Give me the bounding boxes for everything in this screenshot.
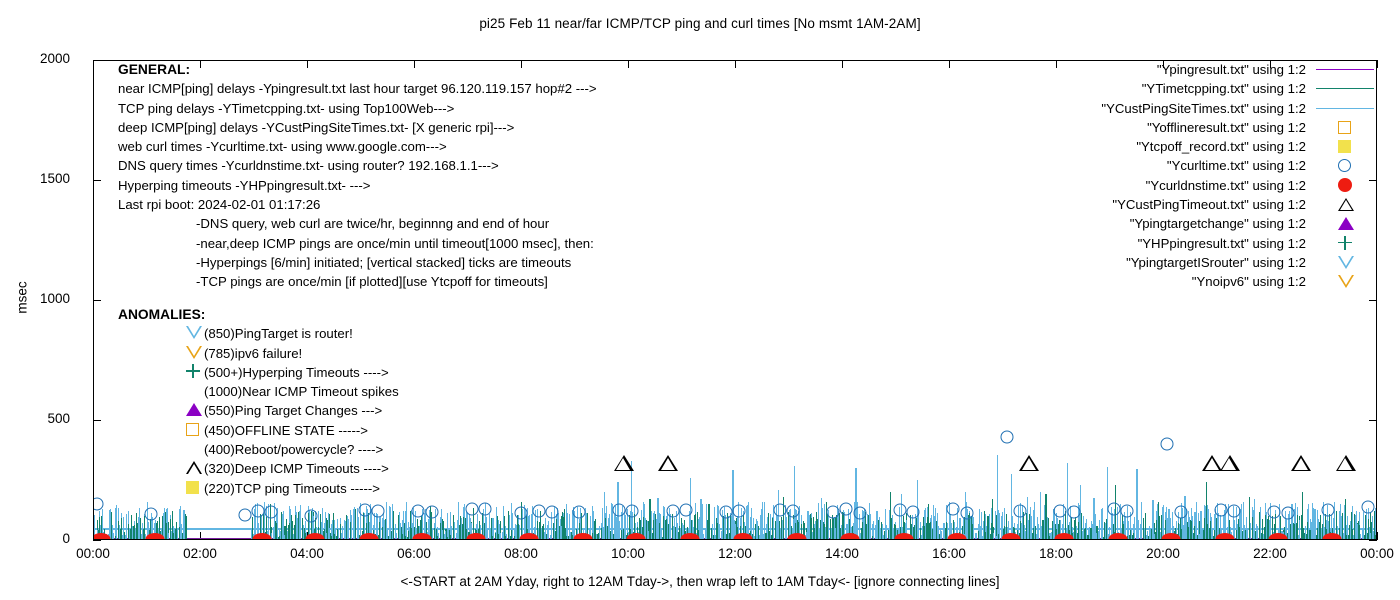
general-annotation-block: GENERAL: near ICMP[ping] delays -Ypingre… [118,60,597,292]
general-indented-line: -near,deep ICMP pings are once/min until… [118,234,597,253]
x-tick-label: 06:00 [374,546,454,561]
anomaly-row: (450)OFFLINE STATE -----> [118,421,399,440]
legend-key [1314,60,1376,79]
plus-teal-icon [186,364,200,383]
legend-label: "YCustPingSiteTimes.txt" using 1:2 [1101,99,1314,118]
x-tick-label: 08:00 [481,546,561,561]
legend-entry: "YTimetcpping.txt" using 1:2 [1101,79,1376,98]
x-tick-label: 02:00 [160,546,240,561]
legend-label: "Ynoipv6" using 1:2 [1192,272,1314,291]
chart-legend: "Ypingresult.txt" using 1:2"YTimetcpping… [1101,60,1376,292]
legend-entry: "Ypingresult.txt" using 1:2 [1101,60,1376,79]
triangle-open-black-icon [186,460,202,479]
legend-label: "YHPpingresult.txt" using 1:2 [1138,234,1314,253]
legend-label: "Yofflineresult.txt" using 1:2 [1147,118,1314,137]
anomaly-label: (1000)Near ICMP Timeout spikes [204,384,399,399]
general-indented-line: -TCP pings are once/min [if plotted][use… [118,272,597,291]
legend-entry: "Ytcpoff_record.txt" using 1:2 [1101,137,1376,156]
square-open-orange-icon [186,422,199,441]
square-filled-yellow-icon [186,480,199,499]
legend-key [1314,137,1376,156]
x-tick-label: 20:00 [1123,546,1203,561]
legend-label: "YCustPingTimeout.txt" using 1:2 [1112,195,1314,214]
legend-label: "Ytcpoff_record.txt" using 1:2 [1136,137,1314,156]
y-tick-label: 2000 [0,51,70,66]
general-indented-lines: -DNS query, web curl are twice/hr, begin… [118,214,597,291]
y-tick-label: 1500 [0,171,70,186]
y-tick-label: 1000 [0,291,70,306]
general-indented-line: -DNS query, web curl are twice/hr, begin… [118,214,597,233]
x-tick-label: 14:00 [802,546,882,561]
legend-label: "Ypingresult.txt" using 1:2 [1157,60,1314,79]
legend-key [1314,176,1376,195]
chart-title: pi25 Feb 11 near/far ICMP/TCP ping and c… [0,16,1400,31]
x-tick-label: 10:00 [588,546,668,561]
anomaly-row: (850)PingTarget is router! [118,324,399,343]
legend-key [1314,253,1376,272]
legend-label: "YpingtargetISrouter" using 1:2 [1126,253,1314,272]
legend-key [1314,272,1376,291]
legend-entry: "YCustPingTimeout.txt" using 1:2 [1101,195,1376,214]
general-line: Hyperping timeouts -YHPpingresult.txt- -… [118,176,597,195]
down-triangle-lightblue-icon [186,325,202,344]
legend-key [1314,195,1376,214]
triangle-filled-purple-icon [186,402,202,421]
legend-key [1314,79,1376,98]
general-heading: GENERAL: [118,60,597,79]
legend-entry: "Yofflineresult.txt" using 1:2 [1101,118,1376,137]
y-tick-mark [93,540,101,541]
anomalies-annotation-block: ANOMALIES: (850)PingTarget is router!(78… [118,305,399,498]
general-line: near ICMP[ping] delays -Ypingresult.txt … [118,79,597,98]
x-tick-mark-top [1377,60,1378,68]
x-axis-label: <-START at 2AM Yday, right to 12AM Tday-… [0,574,1400,589]
anomaly-label: (500+)Hyperping Timeouts ----> [204,365,389,380]
general-lines: near ICMP[ping] delays -Ypingresult.txt … [118,79,597,214]
general-line: web curl times -Ycurltime.txt- using www… [118,137,597,156]
anomaly-label: (550)Ping Target Changes ---> [204,403,382,418]
legend-key [1314,99,1376,118]
legend-label: "Ycurldnstime.txt" using 1:2 [1146,176,1314,195]
x-tick-label: 12:00 [695,546,775,561]
legend-entry: "Ypingtargetchange" using 1:2 [1101,214,1376,233]
x-tick-label: 00:00 [1337,546,1400,561]
anomalies-rows: (850)PingTarget is router!(785)ipv6 fail… [118,324,399,498]
x-tick-label: 04:00 [267,546,347,561]
anomaly-label: (220)TCP ping Timeouts -----> [204,481,380,496]
x-tick-label: 18:00 [1016,546,1096,561]
anomaly-label: (320)Deep ICMP Timeouts ----> [204,461,389,476]
anomaly-row: (320)Deep ICMP Timeouts ----> [118,459,399,478]
anomaly-row: (550)Ping Target Changes ---> [118,401,399,420]
legend-key [1314,234,1376,253]
anomaly-row: (1000)Near ICMP Timeout spikes [118,382,399,401]
legend-key [1314,118,1376,137]
legend-key [1314,156,1376,175]
legend-entry: "YHPpingresult.txt" using 1:2 [1101,234,1376,253]
anomaly-row: (220)TCP ping Timeouts -----> [118,479,399,498]
legend-entry: "YCustPingSiteTimes.txt" using 1:2 [1101,99,1376,118]
general-line: DNS query times -Ycurldnstime.txt- using… [118,156,597,175]
general-indented-line: -Hyperpings [6/min] initiated; [vertical… [118,253,597,272]
legend-line-swatch [1316,108,1374,109]
anomaly-label: (400)Reboot/powercycle? ----> [204,442,383,457]
x-tick-label: 00:00 [53,546,133,561]
x-tick-mark [1377,532,1378,540]
anomaly-row: (400)Reboot/powercycle? ----> [118,440,399,459]
legend-label: "Ypingtargetchange" using 1:2 [1130,214,1314,233]
legend-entry: "Ycurltime.txt" using 1:2 [1101,156,1376,175]
down-triangle-orange-icon [1338,274,1354,293]
legend-line-swatch [1316,88,1374,89]
legend-key [1314,214,1376,233]
general-line: deep ICMP[ping] delays -YCustPingSiteTim… [118,118,597,137]
anomaly-row: (500+)Hyperping Timeouts ----> [118,363,399,382]
general-line: TCP ping delays -YTimetcpping.txt- using… [118,99,597,118]
legend-entry: "Ynoipv6" using 1:2 [1101,272,1376,291]
x-tick-label: 16:00 [909,546,989,561]
legend-line-swatch [1316,69,1374,70]
y-tick-label: 500 [0,411,70,426]
down-triangle-orange-icon [186,345,202,364]
legend-label: "Ycurltime.txt" using 1:2 [1167,156,1314,175]
y-tick-label: 0 [0,531,70,546]
legend-label: "YTimetcpping.txt" using 1:2 [1142,79,1314,98]
anomaly-label: (450)OFFLINE STATE -----> [204,423,368,438]
anomaly-label: (785)ipv6 failure! [204,346,302,361]
general-line: Last rpi boot: 2024-02-01 01:17:26 [118,195,597,214]
legend-entry: "Ycurldnstime.txt" using 1:2 [1101,176,1376,195]
anomaly-row: (785)ipv6 failure! [118,344,399,363]
x-tick-label: 22:00 [1230,546,1310,561]
legend-entry: "YpingtargetISrouter" using 1:2 [1101,253,1376,272]
anomalies-heading: ANOMALIES: [118,305,399,324]
anomaly-label: (850)PingTarget is router! [204,326,353,341]
y-tick-mark [1369,540,1377,541]
